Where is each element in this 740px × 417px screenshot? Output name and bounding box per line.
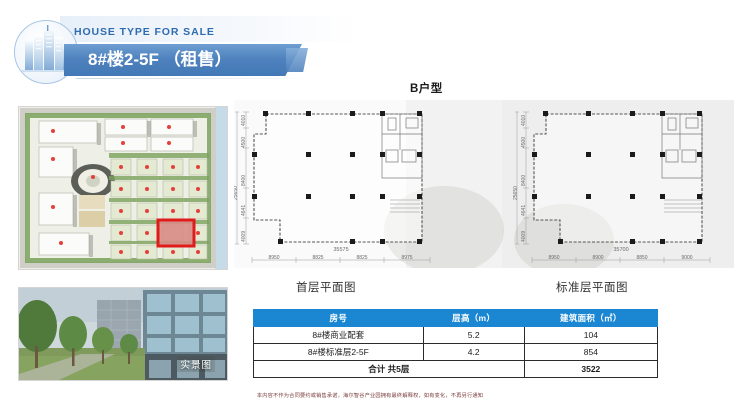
dim-v1-left: 4010: [241, 115, 247, 126]
floor-plan-drawings: 4010 4500 8400 4641 4009 25650 8950 8825…: [234, 100, 734, 268]
plan-caption-standard-floor: 标准层平面图: [556, 279, 628, 295]
cell-height-2: 4.2: [423, 344, 524, 361]
plan-heading: B户型: [410, 80, 443, 96]
dim-h3-right: 8850: [636, 255, 647, 261]
cell-total-label: 合计 共5层: [254, 361, 525, 378]
dim-v-total-right: 25650: [513, 186, 519, 200]
cell-height-1: 5.2: [423, 327, 524, 344]
table-header-room: 房号: [254, 310, 424, 327]
dim-h4-left: 8975: [401, 255, 412, 261]
plan-caption-first-floor: 首层平面图: [296, 279, 356, 295]
header-eyebrow: HOUSE TYPE FOR SALE: [74, 26, 215, 38]
cell-total-value: 3522: [524, 361, 657, 378]
dim-v1-right: 4010: [521, 115, 527, 126]
building-exterior-photo: 实景图: [18, 287, 228, 381]
dim-h3-left: 8825: [356, 255, 367, 261]
disclaimer-text: 本内容不作为合同要约或销售承诺，海尔智谷产业园拥有最终解释权，如有变化，不再另行…: [0, 392, 740, 399]
table-header-building-area: 建筑面积（㎡）: [524, 310, 657, 327]
dim-h-total-right: 35700: [613, 247, 628, 253]
site-master-plan-image: [18, 106, 228, 270]
dim-h2-left: 8825: [312, 255, 323, 261]
dim-h1-left: 8950: [268, 255, 279, 261]
dim-h1-right: 8950: [548, 255, 559, 261]
cell-area-1: 104: [524, 327, 657, 344]
highlighted-building-marker: [158, 220, 194, 246]
page-title: 8#楼2-5F （租售）: [88, 47, 298, 73]
site-plan-drawing: [19, 107, 227, 269]
page-header: HOUSE TYPE FOR SALE 8#楼2-5F （租售）: [0, 0, 740, 86]
dim-v5-left: 4009: [241, 231, 247, 242]
photo-tag-label: 实景图: [177, 356, 215, 372]
table-row: 8#楼商业配套 5.2 104: [254, 327, 658, 344]
dim-h-total-left: 35575: [333, 247, 348, 253]
dim-v-total-left: 25650: [234, 186, 239, 200]
dim-v4-left: 4641: [241, 205, 247, 216]
dim-v2-right: 4500: [521, 137, 527, 148]
table-total-row: 合计 共5层 3522: [254, 361, 658, 378]
cell-room-1: 8#楼商业配套: [254, 327, 424, 344]
cell-area-2: 854: [524, 344, 657, 361]
table-header-row: 房号 层高（m） 建筑面积（㎡）: [254, 310, 658, 327]
dim-h4-right: 9000: [681, 255, 692, 261]
table-header-floor-height: 层高（m）: [423, 310, 524, 327]
dim-v5-right: 4009: [521, 231, 527, 242]
dim-v4-right: 4641: [521, 205, 527, 216]
dim-v3-right: 8400: [521, 175, 527, 186]
header-divider: [76, 78, 316, 79]
cell-room-2: 8#楼标准层2-5F: [254, 344, 424, 361]
dim-v2-left: 4500: [241, 137, 247, 148]
dim-v3-left: 8400: [241, 175, 247, 186]
dim-h2-right: 8900: [592, 255, 603, 261]
unit-area-table: 房号 层高（m） 建筑面积（㎡） 8#楼商业配套 5.2 104 8#楼标准层2…: [253, 309, 658, 378]
floor-plans-image: 4010 4500 8400 4641 4009 25650 8950 8825…: [234, 100, 734, 268]
table-row: 8#楼标准层2-5F 4.2 854: [254, 344, 658, 361]
